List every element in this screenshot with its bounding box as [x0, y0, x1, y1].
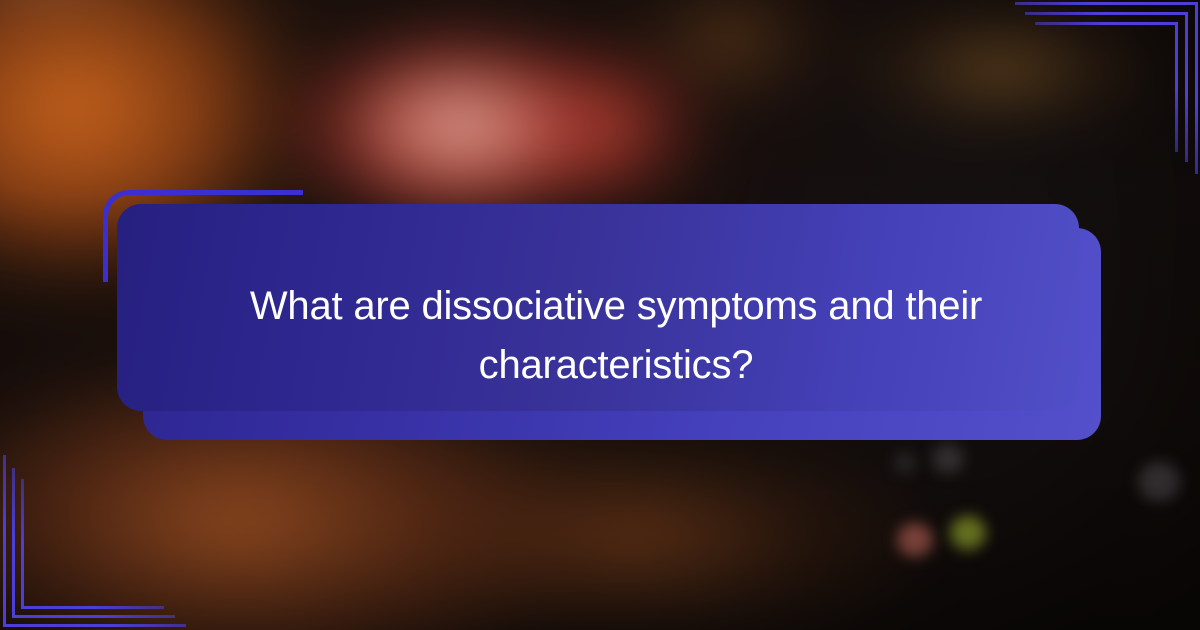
corner-bracket-bottom-left-inner — [21, 479, 164, 609]
question-card-graphic: What are dissociative symptoms and their… — [0, 0, 1200, 630]
question-text: What are dissociative symptoms and their… — [236, 277, 996, 395]
question-card: What are dissociative symptoms and their… — [117, 204, 1079, 411]
corner-bracket-top-right-inner — [1035, 22, 1178, 152]
